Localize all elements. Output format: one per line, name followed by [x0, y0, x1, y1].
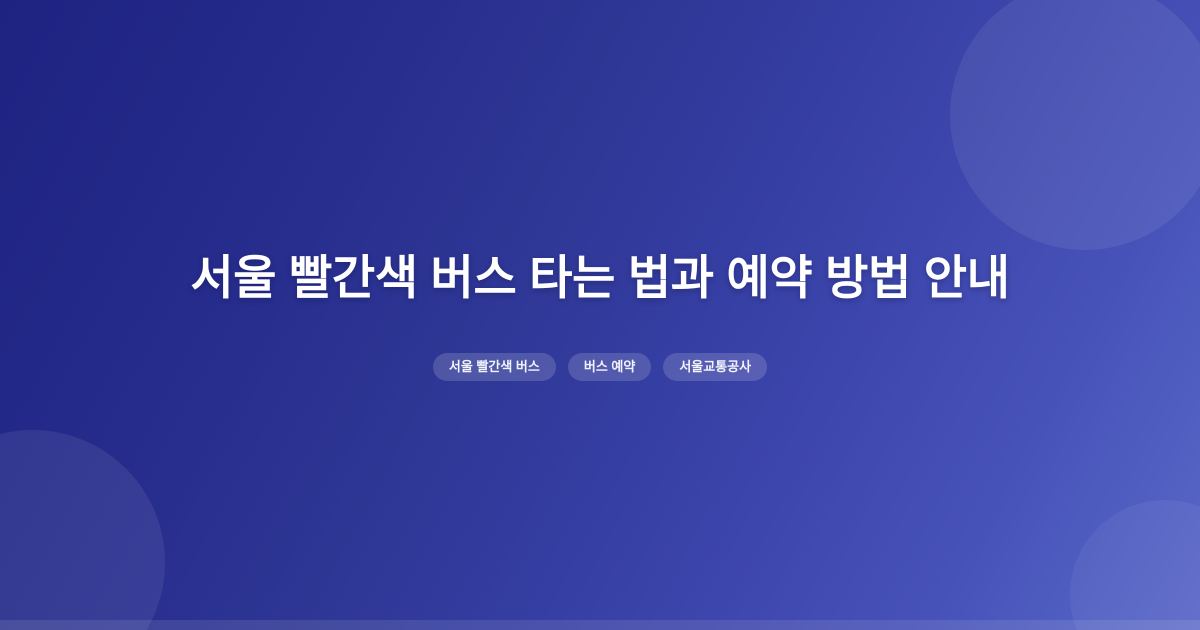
page-title: 서울 빨간색 버스 타는 법과 예약 방법 안내: [190, 249, 1009, 306]
tag-list: 서울 빨간색 버스 버스 예약 서울교통공사: [433, 353, 767, 381]
share-card: 서울 빨간색 버스 타는 법과 예약 방법 안내 서울 빨간색 버스 버스 예약…: [0, 0, 1200, 630]
tag-chip-3[interactable]: 서울교통공사: [663, 353, 767, 381]
tag-chip-2[interactable]: 버스 예약: [568, 353, 651, 381]
tag-chip-1[interactable]: 서울 빨간색 버스: [433, 353, 556, 381]
card-content: 서울 빨간색 버스 타는 법과 예약 방법 안내 서울 빨간색 버스 버스 예약…: [0, 0, 1200, 630]
